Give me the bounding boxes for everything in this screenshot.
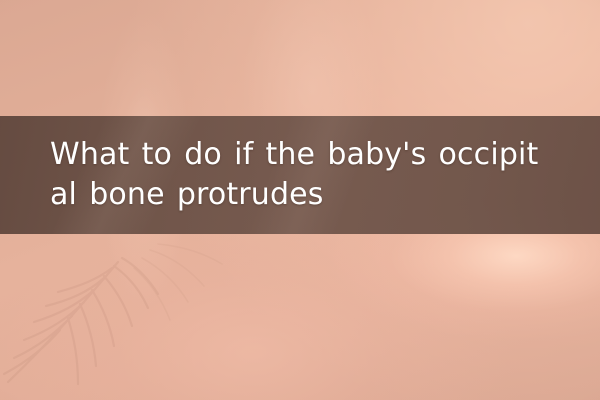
title-banner: What to do if the baby's occipital bone … [0,116,600,234]
title-card: What to do if the baby's occipital bone … [0,0,600,400]
page-title: What to do if the baby's occipital bone … [0,135,600,215]
